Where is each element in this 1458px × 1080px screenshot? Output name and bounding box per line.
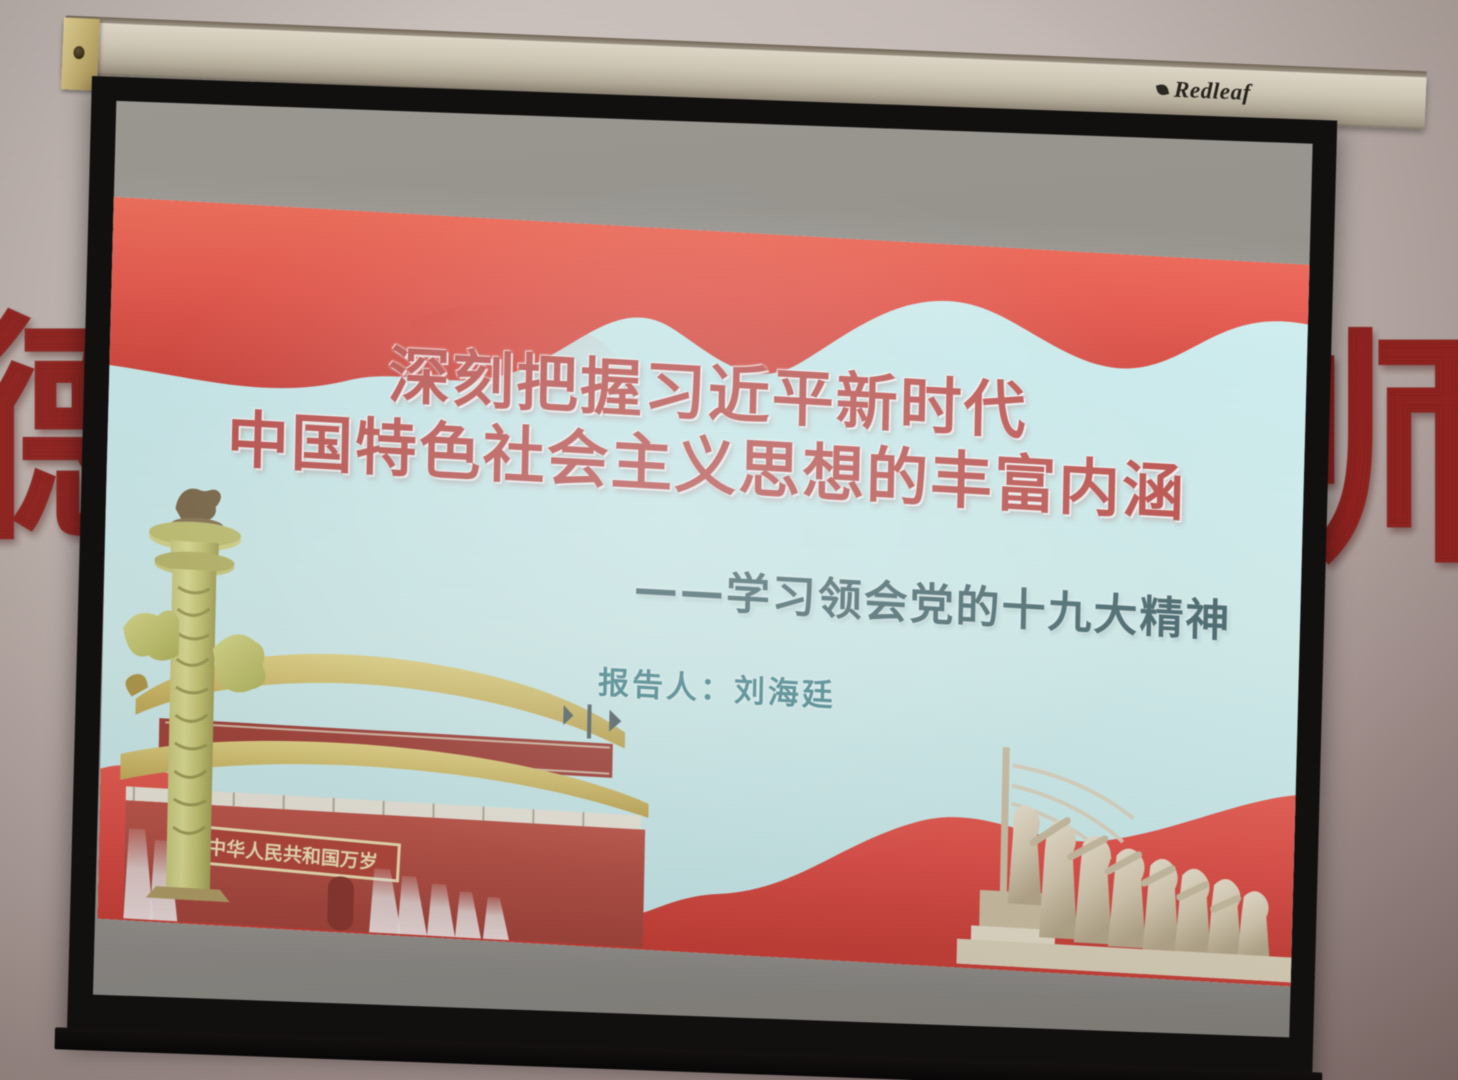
projection-screen: 中华人民共和国万岁 xyxy=(67,76,1337,1080)
screen-brand-badge: Redleaf xyxy=(1156,76,1251,106)
projected-slide-area: 中华人民共和国万岁 xyxy=(97,197,1310,987)
brand-label: Redleaf xyxy=(1173,77,1251,106)
heroes-monument-relief-icon xyxy=(956,739,1300,983)
slide-subtitle-block: ——学习领会党的十九大精神 xyxy=(104,522,1304,654)
bracket-screw-hole xyxy=(73,46,85,59)
slide-subtitle: ——学习领会党的十九大精神 xyxy=(633,563,1231,648)
classroom-scene: 德 师 Redleaf xyxy=(0,0,1458,1080)
leaf-icon xyxy=(1156,83,1169,96)
presentation-slide: 中华人民共和国万岁 xyxy=(97,197,1310,987)
screen-surface: 中华人民共和国万岁 xyxy=(93,101,1313,1038)
